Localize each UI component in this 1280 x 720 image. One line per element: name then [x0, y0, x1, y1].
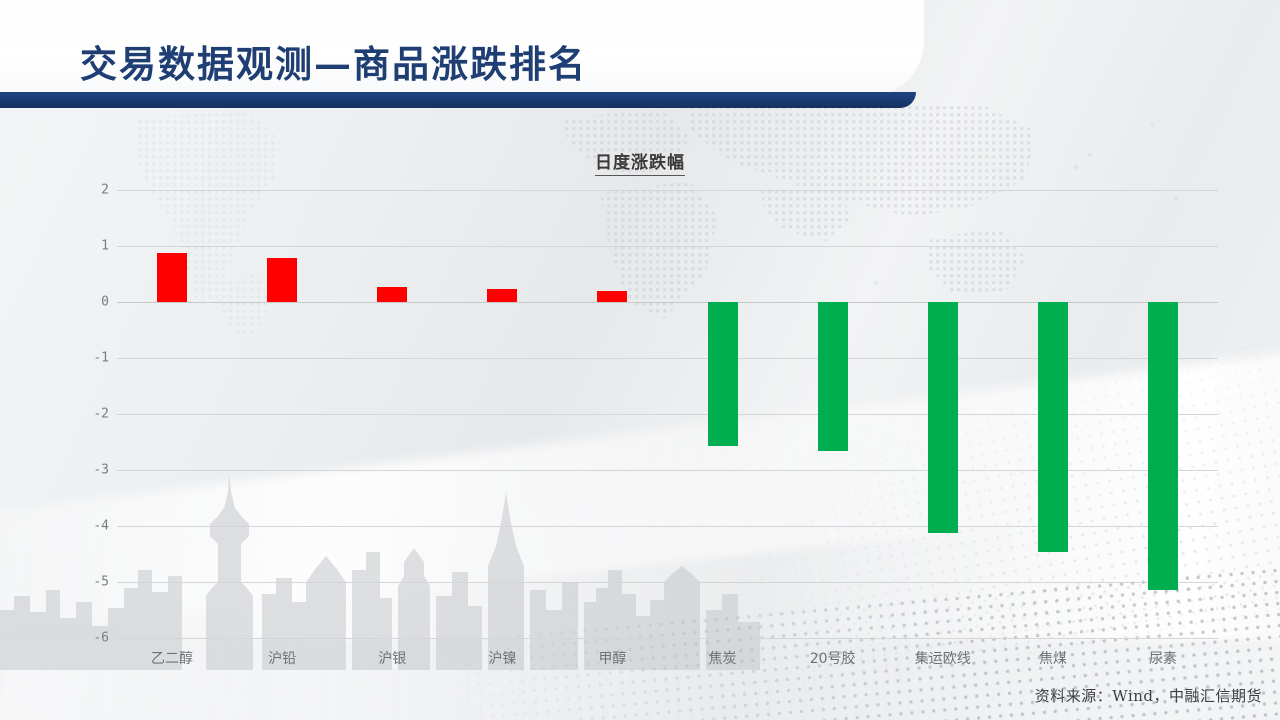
slide-header: 交易数据观测—商品涨跌排名 — [0, 0, 1280, 110]
page-title: 交易数据观测—商品涨跌排名 — [80, 34, 587, 88]
y-axis-tick-label: -2 — [69, 407, 109, 422]
chart-plot-area: 210-1-2-3-4-5-6乙二醇沪铅沪银沪镍甲醇焦炭20号胶集运欧线焦煤尿素 — [117, 190, 1218, 638]
gridline — [117, 190, 1218, 191]
gridline — [117, 638, 1218, 639]
bar — [1038, 302, 1068, 552]
slide-canvas: 交易数据观测—商品涨跌排名 日度涨跌幅 210-1-2-3-4-5-6乙二醇沪铅… — [0, 0, 1280, 720]
gridline — [117, 582, 1218, 583]
y-axis-tick-label: -6 — [69, 631, 109, 646]
bar — [928, 302, 958, 533]
bar — [157, 253, 187, 302]
x-axis-category-label: 尿素 — [1093, 648, 1233, 668]
y-axis-tick-label: -4 — [69, 519, 109, 534]
bar — [267, 258, 297, 302]
source-note: 资料来源：Wind，中融汇信期货 — [1035, 685, 1262, 706]
chart-title: 日度涨跌幅 — [0, 148, 1280, 173]
bar — [487, 289, 517, 302]
bar — [708, 302, 738, 446]
bar — [818, 302, 848, 451]
bar — [377, 287, 407, 302]
bar — [1148, 302, 1178, 590]
chart-title-text: 日度涨跌幅 — [595, 153, 685, 176]
y-axis-tick-label: -5 — [69, 575, 109, 590]
y-axis-tick-label: 1 — [69, 239, 109, 254]
y-axis-tick-label: -1 — [69, 351, 109, 366]
bar — [597, 291, 627, 302]
y-axis-tick-label: 0 — [69, 295, 109, 310]
y-axis-tick-label: 2 — [69, 183, 109, 198]
header-blue-bar — [0, 92, 916, 108]
y-axis-tick-label: -3 — [69, 463, 109, 478]
gridline — [117, 246, 1218, 247]
bar-chart: 日度涨跌幅 210-1-2-3-4-5-6乙二醇沪铅沪银沪镍甲醇焦炭20号胶集运… — [0, 110, 1280, 670]
